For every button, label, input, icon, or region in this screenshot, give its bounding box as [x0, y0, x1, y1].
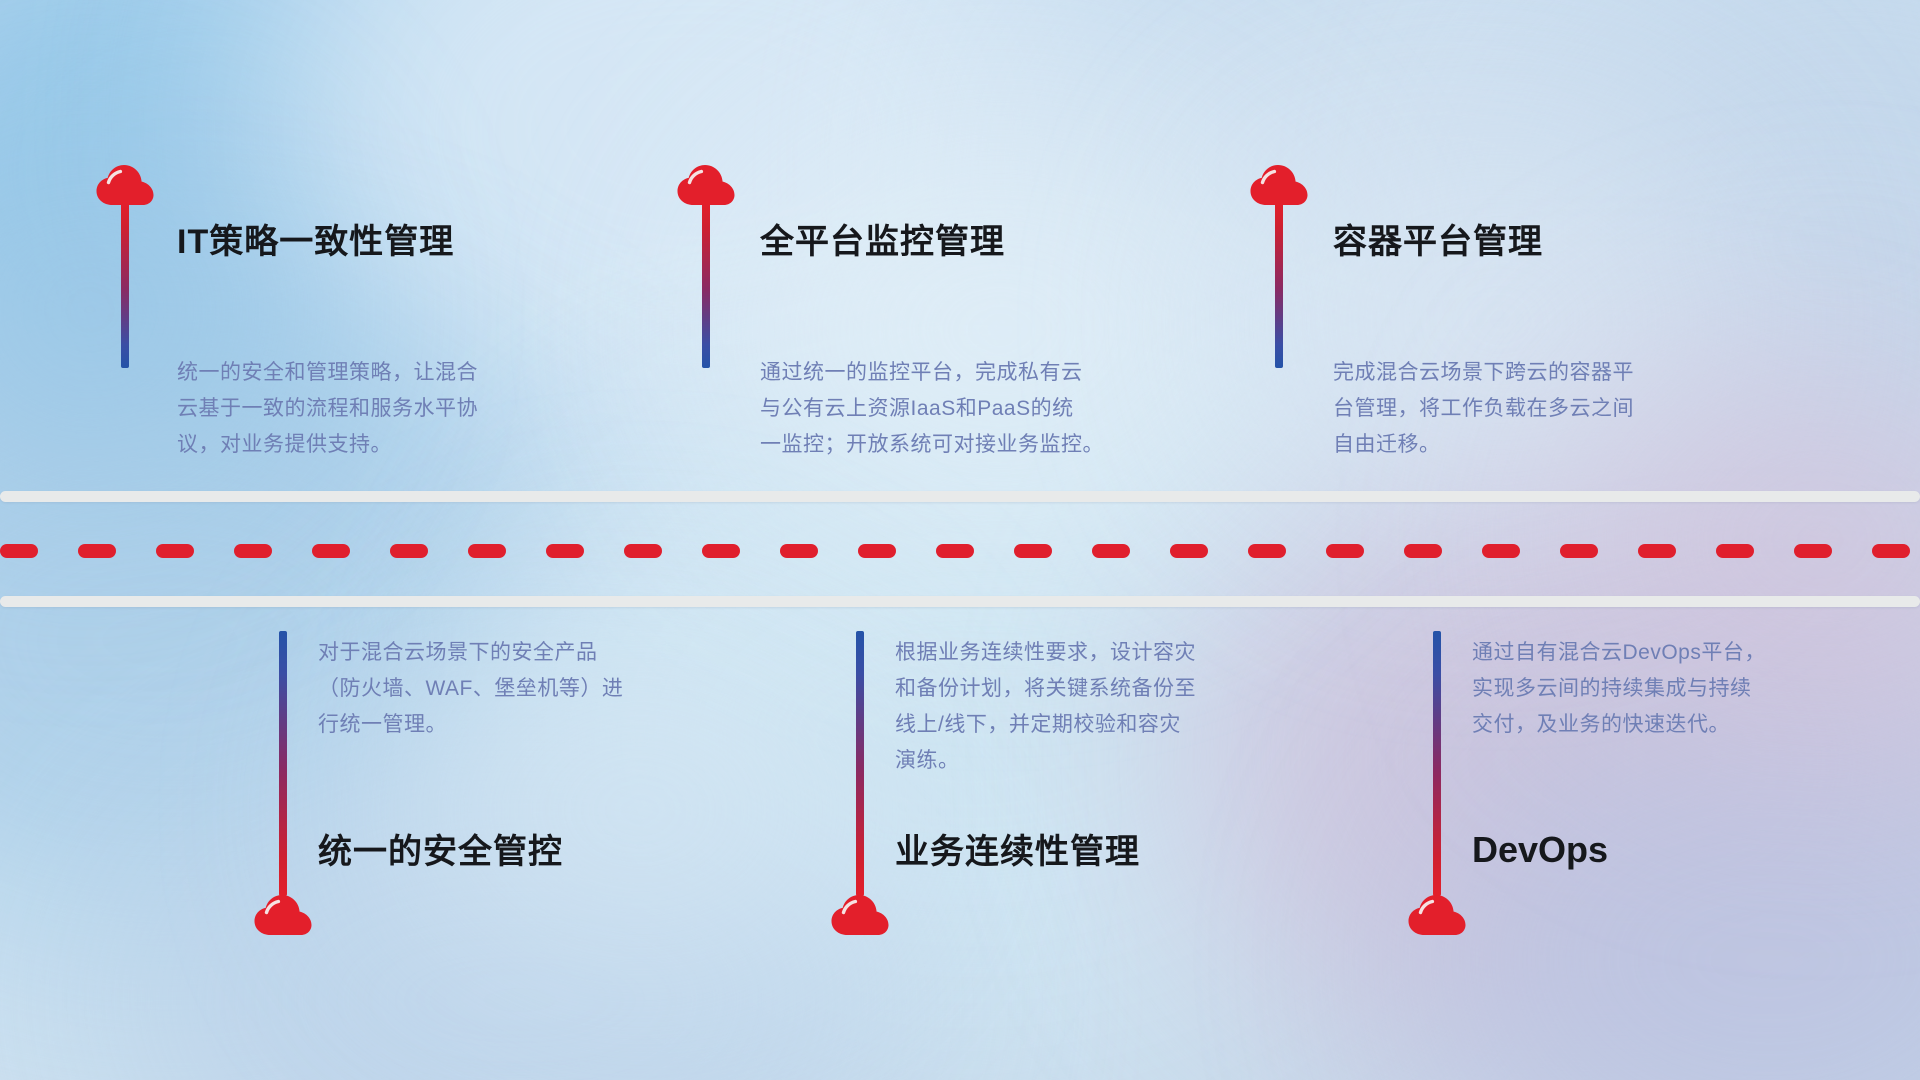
connector-line	[1433, 631, 1441, 896]
road-dash	[624, 544, 662, 558]
cloud-icon	[830, 893, 890, 937]
connector-line	[702, 203, 710, 368]
road-dash	[1248, 544, 1286, 558]
road-dash	[1404, 544, 1442, 558]
item-description: 通过统一的监控平台，完成私有云 与公有云上资源IaaS和PaaS的统 一监控；开…	[760, 355, 1210, 463]
item-description: 通过自有混合云DevOps平台， 实现多云间的持续集成与持续 交付，及业务的快速…	[1472, 635, 1912, 743]
road-dash	[1014, 544, 1052, 558]
item-title: DevOps	[1472, 832, 1608, 868]
connector-line	[279, 631, 287, 896]
road-dash	[468, 544, 506, 558]
connector-line	[1275, 203, 1283, 368]
road-dash	[234, 544, 272, 558]
cloud-icon	[95, 163, 155, 207]
road-dash	[858, 544, 896, 558]
road-dash	[546, 544, 584, 558]
item-description: 对于混合云场景下的安全产品 （防火墙、WAF、堡垒机等）进 行统一管理。	[318, 635, 758, 743]
item-description: 根据业务连续性要求，设计容灾 和备份计划，将关键系统备份至 线上/线下，并定期校…	[895, 635, 1335, 779]
cloud-icon	[253, 893, 313, 937]
connector-line	[121, 203, 129, 368]
road-dash	[1638, 544, 1676, 558]
road-dash	[1170, 544, 1208, 558]
cloud-icon	[1249, 163, 1309, 207]
road-dash	[78, 544, 116, 558]
item-description: 统一的安全和管理策略，让混合 云基于一致的流程和服务水平协 议，对业务提供支持。	[177, 355, 607, 463]
road-center-dashes	[0, 544, 1920, 558]
road-dash	[156, 544, 194, 558]
item-title: IT策略一致性管理	[177, 225, 454, 259]
road-dash	[390, 544, 428, 558]
road-dash	[1560, 544, 1598, 558]
road-dash	[1482, 544, 1520, 558]
cloud-icon	[1407, 893, 1467, 937]
item-title: 业务连续性管理	[895, 835, 1140, 869]
connector-line	[856, 631, 864, 896]
road-dash	[1794, 544, 1832, 558]
infographic-canvas: IT策略一致性管理 统一的安全和管理策略，让混合 云基于一致的流程和服务水平协 …	[0, 0, 1920, 1080]
item-title: 容器平台管理	[1333, 225, 1543, 259]
road-dash	[0, 544, 38, 558]
road-dash	[1326, 544, 1364, 558]
road-edge-line-bottom	[0, 596, 1920, 607]
item-title: 全平台监控管理	[760, 225, 1005, 259]
road-dash	[936, 544, 974, 558]
road-dash	[1716, 544, 1754, 558]
item-description: 完成混合云场景下跨云的容器平 台管理，将工作负载在多云之间 自由迁移。	[1333, 355, 1783, 463]
road-dash	[702, 544, 740, 558]
road-dash	[312, 544, 350, 558]
item-title: 统一的安全管控	[318, 835, 563, 869]
road-dash	[1872, 544, 1910, 558]
road-edge-line-top	[0, 491, 1920, 502]
background-blob	[720, 120, 1280, 540]
road-dash	[1092, 544, 1130, 558]
cloud-icon	[676, 163, 736, 207]
road-dash	[780, 544, 818, 558]
